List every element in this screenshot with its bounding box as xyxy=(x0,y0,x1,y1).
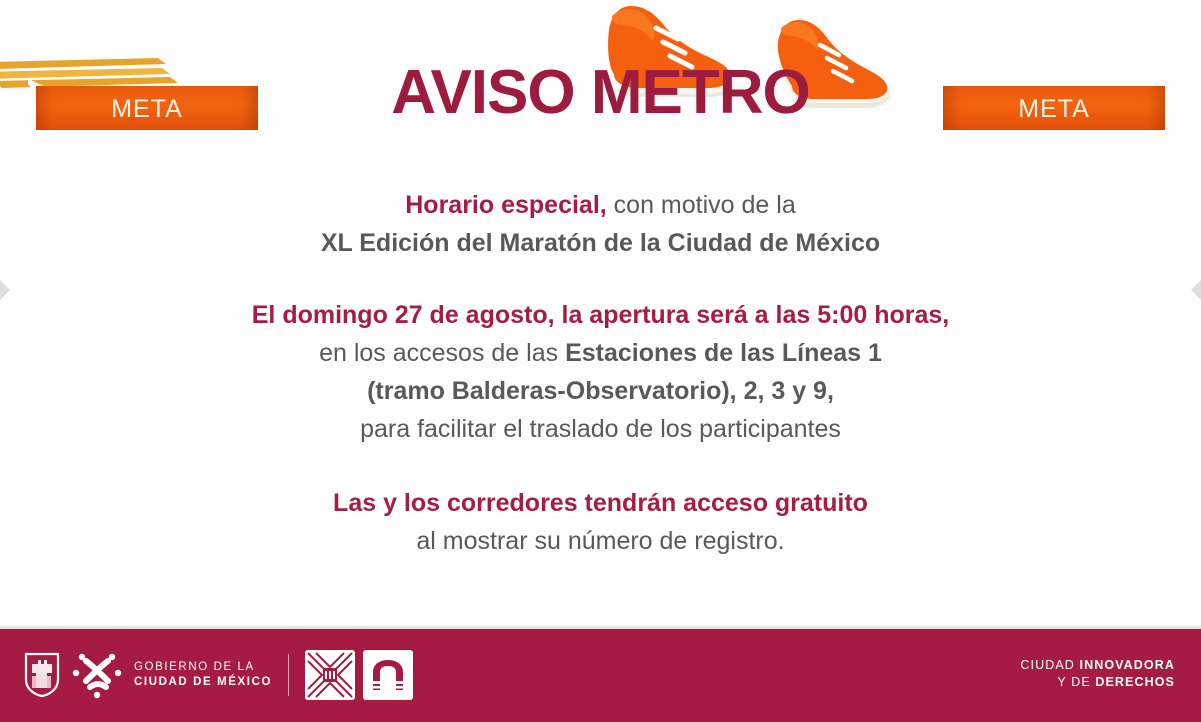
gobierno-line-1: GOBIERNO DE LA xyxy=(134,660,272,675)
line-tramo-balderas: (tramo Balderas-Observatorio), 2, 3 y 9, xyxy=(0,372,1201,410)
slogan-y-de: Y DE xyxy=(1057,675,1095,689)
ciudad-innovadora-slogan: CIUDAD INNOVADORA Y DE DERECHOS xyxy=(1020,657,1175,691)
paragraph-2: El domingo 27 de agosto, la apertura ser… xyxy=(0,296,1201,448)
poster-header: META META xyxy=(0,0,1201,160)
horario-especial-emphasis: Horario especial, xyxy=(405,191,606,219)
slogan-ciudad: CIUDAD xyxy=(1020,658,1079,672)
meta-banner-left-label: META xyxy=(28,95,266,124)
meta-banner-right-label: META xyxy=(935,95,1173,124)
line-facilitar-traslado: para facilitar el traslado de los partic… xyxy=(0,410,1201,448)
meta-banner-left: META xyxy=(28,86,266,130)
gobierno-cdmx-wordmark: GOBIERNO DE LA CIUDAD DE MÉXICO xyxy=(134,660,272,690)
line-numero-registro: al mostrar su número de registro. xyxy=(0,522,1201,560)
metro-greca-pattern-icon xyxy=(305,650,355,700)
line-corredores-gratuito: Las y los corredores tendrán acceso grat… xyxy=(0,484,1201,522)
footer-divider xyxy=(0,626,1201,629)
estaciones-lineas-bold: Estaciones de las Líneas 1 xyxy=(565,339,882,367)
line-edicion-maraton: XL Edición del Maratón de la Ciudad de M… xyxy=(0,224,1201,262)
footer-vertical-divider xyxy=(288,654,289,696)
spacer xyxy=(0,262,1201,296)
domingo-apertura-emphasis: El domingo 27 de agosto, la apertura ser… xyxy=(252,301,949,329)
horario-especial-rest: con motivo de la xyxy=(607,191,796,219)
line-horario-especial: Horario especial, con motivo de la xyxy=(0,186,1201,224)
poster-footer: GOBIERNO DE LA CIUDAD DE MÉXICO xyxy=(0,629,1201,722)
line-domingo-apertura: El domingo 27 de agosto, la apertura ser… xyxy=(0,296,1201,334)
slogan-line-2: Y DE DERECHOS xyxy=(1020,674,1175,691)
cdmx-knot-icon xyxy=(72,651,122,699)
line-accesos-estaciones: en los accesos de las Estaciones de las … xyxy=(0,334,1201,372)
accesos-prefix: en los accesos de las xyxy=(319,339,565,367)
meta-banner-right: META xyxy=(935,86,1173,130)
notice-body: Horario especial, con motivo de la XL Ed… xyxy=(0,186,1201,560)
poster-canvas: META META xyxy=(0,0,1201,722)
metro-m-logo-icon xyxy=(363,650,413,700)
corredores-gratuito-emphasis: Las y los corredores tendrán acceso grat… xyxy=(333,489,868,517)
slogan-derechos: DERECHOS xyxy=(1095,675,1175,689)
cdmx-shield-icon xyxy=(24,652,60,698)
spacer xyxy=(0,448,1201,484)
footer-logo-group: GOBIERNO DE LA CIUDAD DE MÉXICO xyxy=(24,647,413,703)
slogan-line-1: CIUDAD INNOVADORA xyxy=(1020,657,1175,674)
slogan-innovadora: INNOVADORA xyxy=(1080,658,1176,672)
paragraph-3: Las y los corredores tendrán acceso grat… xyxy=(0,484,1201,560)
gobierno-line-2: CIUDAD DE MÉXICO xyxy=(134,675,272,690)
paragraph-1: Horario especial, con motivo de la XL Ed… xyxy=(0,186,1201,262)
